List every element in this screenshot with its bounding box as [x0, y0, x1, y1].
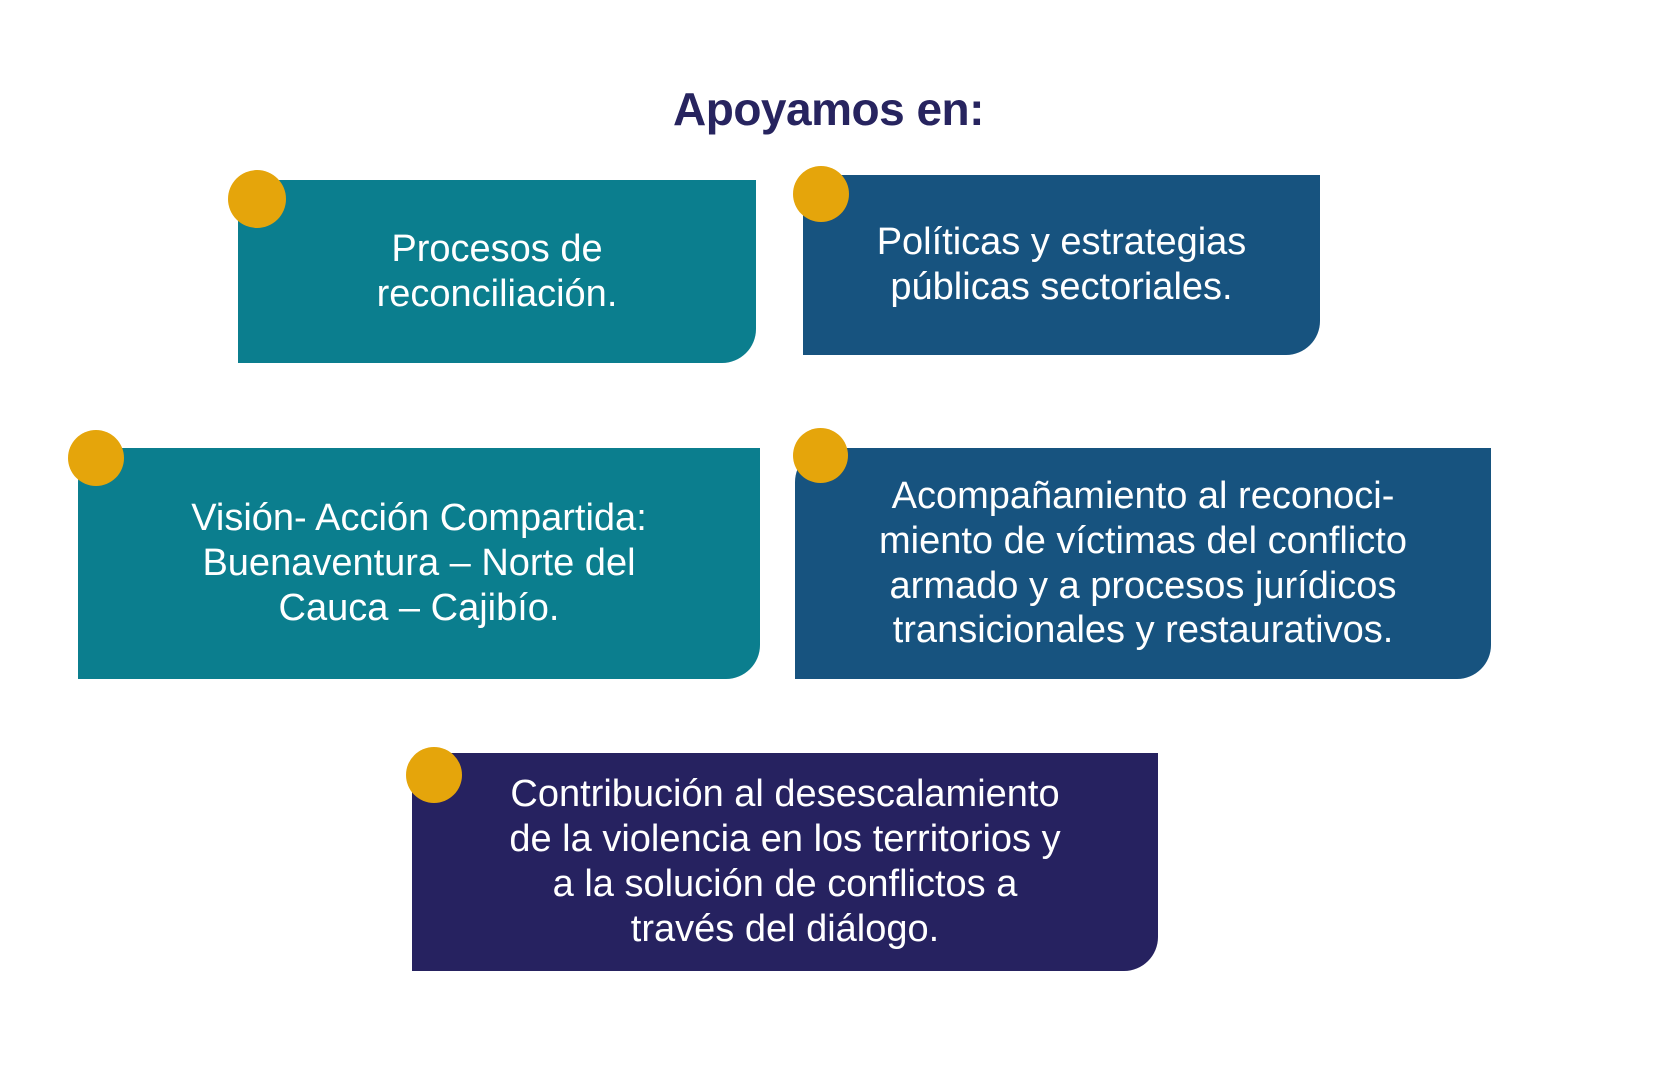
gold-dot-icon-card-1 [228, 170, 286, 228]
card-contribucion-desescalamiento: Contribución al desescalamiento de la vi… [412, 753, 1158, 971]
card-procesos-de-reconciliacion: Procesos de reconciliación. [238, 180, 756, 363]
card-acompanamiento-victimas: Acompañamiento al reconoci- miento de ví… [795, 448, 1491, 679]
page-title: Apoyamos en: [0, 84, 1657, 135]
infographic-canvas: Apoyamos en: Procesos de reconciliación.… [0, 0, 1657, 1081]
card-3-text: Visión- Acción Compartida: Buenaventura … [78, 496, 760, 630]
card-5-text: Contribución al desescalamiento de la vi… [412, 772, 1158, 951]
card-1-text: Procesos de reconciliación. [238, 227, 756, 317]
card-4-text: Acompañamiento al reconoci- miento de ví… [795, 474, 1491, 653]
gold-dot-icon-card-4 [793, 428, 848, 483]
card-2-text: Políticas y estrategias públicas sectori… [803, 220, 1320, 310]
gold-dot-icon-card-2 [793, 166, 849, 222]
gold-dot-icon-card-3 [68, 430, 124, 486]
gold-dot-icon-card-5 [406, 747, 462, 803]
card-vision-accion-compartida: Visión- Acción Compartida: Buenaventura … [78, 448, 760, 679]
card-politicas-y-estrategias-publicas: Políticas y estrategias públicas sectori… [803, 175, 1320, 355]
